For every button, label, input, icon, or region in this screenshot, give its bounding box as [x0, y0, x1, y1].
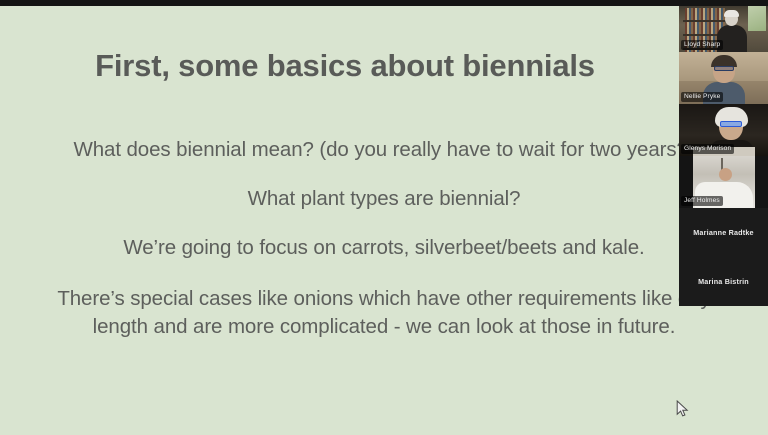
- participant-tile[interactable]: Marianne Radtke: [679, 208, 768, 257]
- slide-body-line: What does biennial mean? (do you really …: [0, 138, 768, 162]
- participant-name-label: Jeff Holmes: [681, 196, 723, 206]
- participant-name-label: Glenys Morison: [681, 144, 734, 154]
- slide-body: What does biennial mean? (do you really …: [0, 138, 768, 339]
- participant-tile[interactable]: Glenys Morison: [679, 104, 768, 156]
- slide-body-line: What plant types are biennial?: [0, 187, 768, 211]
- participant-tile[interactable]: Marina Bistrin: [679, 257, 768, 306]
- slide-body-line: length and are more complicated - we can…: [0, 315, 768, 339]
- participant-tile[interactable]: Jeff Holmes: [679, 156, 768, 208]
- slide-title: First, some basics about biennials: [0, 48, 690, 84]
- participant-tile[interactable]: Lloyd Sharp: [679, 0, 768, 52]
- participant-name-label: Nellie Pryke: [681, 92, 723, 102]
- top-letterbox-band: [0, 0, 768, 6]
- shared-slide: First, some basics about biennials What …: [0, 6, 768, 435]
- screen-share-viewport: First, some basics about biennials What …: [0, 0, 768, 435]
- participant-name-label: Marina Bistrin: [698, 277, 749, 286]
- participant-name-label: Marianne Radtke: [693, 228, 754, 237]
- participant-no-video-placeholder: Marianne Radtke: [679, 208, 768, 257]
- slide-body-line: There’s special cases like onions which …: [0, 287, 768, 311]
- slide-body-line: We’re going to focus on carrots, silverb…: [0, 236, 768, 260]
- participant-tile[interactable]: Nellie Pryke: [679, 52, 768, 104]
- participant-filmstrip[interactable]: Lloyd Sharp Nellie Pryke: [679, 0, 768, 306]
- participant-no-video-placeholder: Marina Bistrin: [679, 257, 768, 306]
- participant-name-label: Lloyd Sharp: [681, 40, 723, 50]
